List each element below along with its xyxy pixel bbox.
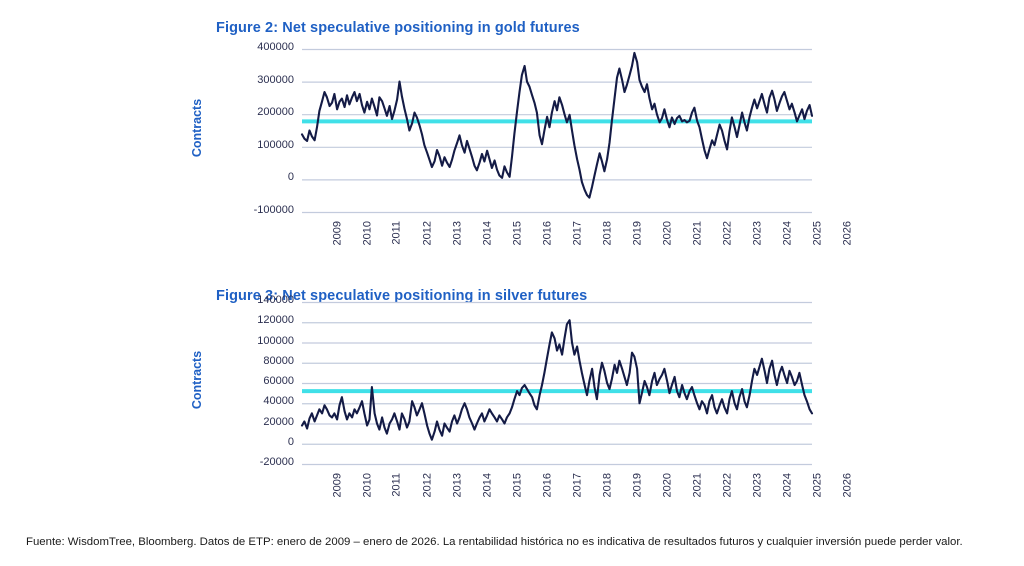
x-axis-tick-label: 2017 <box>571 221 583 245</box>
x-axis-tick-label: 2020 <box>661 221 673 245</box>
x-axis-tick-label: 2016 <box>541 473 553 497</box>
x-axis-tick-label: 2023 <box>751 221 763 245</box>
y-axis-tick-label: 0 <box>206 171 294 183</box>
x-axis-tick-label: 2025 <box>811 221 823 245</box>
figure-silver-plot: 140000120000100000800006000040000200000-… <box>0 268 1024 518</box>
data-series-line <box>302 53 812 198</box>
y-axis-tick-label: -100000 <box>206 204 294 216</box>
x-axis-tick-label: 2020 <box>661 473 673 497</box>
figure-silver: Figure 3: Net speculative positioning in… <box>0 268 1024 518</box>
data-series-line <box>302 320 812 439</box>
x-axis-tick-label: 2010 <box>361 473 373 497</box>
y-axis-tick-label: 200000 <box>206 106 294 118</box>
x-axis-tick-label: 2021 <box>691 473 703 497</box>
x-axis-tick-label: 2024 <box>781 473 793 497</box>
x-axis-tick-label: 2024 <box>781 221 793 245</box>
y-axis-tick-label: 40000 <box>206 395 294 407</box>
x-axis-tick-label: 2012 <box>421 473 433 497</box>
x-axis-tick-label: 2023 <box>751 473 763 497</box>
x-axis-tick-label: 2019 <box>631 473 643 497</box>
y-axis-tick-label: 100000 <box>206 139 294 151</box>
x-axis-tick-label: 2025 <box>811 473 823 497</box>
x-axis-tick-label: 2014 <box>481 473 493 497</box>
x-axis-tick-label: 2009 <box>331 221 343 245</box>
y-axis-tick-label: 0 <box>206 436 294 448</box>
x-axis-tick-label: 2011 <box>391 473 403 497</box>
x-axis-tick-label: 2017 <box>571 473 583 497</box>
x-axis-tick-label: 2011 <box>391 221 403 245</box>
y-axis-tick-label: 120000 <box>206 314 294 326</box>
y-axis-tick-label: 80000 <box>206 355 294 367</box>
x-axis-tick-label: 2021 <box>691 221 703 245</box>
x-axis-tick-label: 2012 <box>421 221 433 245</box>
x-axis-tick-label: 2019 <box>631 221 643 245</box>
figure-gold: Figure 2: Net speculative positioning in… <box>0 0 1024 268</box>
x-axis-tick-label: 2010 <box>361 221 373 245</box>
x-axis-tick-label: 2026 <box>841 221 853 245</box>
y-axis-tick-label: 100000 <box>206 335 294 347</box>
x-axis-tick-label: 2018 <box>601 473 613 497</box>
x-axis-tick-label: 2009 <box>331 473 343 497</box>
y-axis-tick-label: 60000 <box>206 375 294 387</box>
x-axis-tick-label: 2018 <box>601 221 613 245</box>
x-axis-tick-label: 2022 <box>721 221 733 245</box>
y-axis-tick-label: 20000 <box>206 416 294 428</box>
x-axis-tick-label: 2026 <box>841 473 853 497</box>
y-axis-tick-label: 140000 <box>206 294 294 306</box>
x-axis-tick-label: 2015 <box>511 221 523 245</box>
x-axis-tick-label: 2013 <box>451 221 463 245</box>
x-axis-tick-label: 2014 <box>481 221 493 245</box>
x-axis-tick-label: 2013 <box>451 473 463 497</box>
y-axis-tick-label: -20000 <box>206 456 294 468</box>
x-axis-tick-label: 2016 <box>541 221 553 245</box>
source-footnote: Fuente: WisdomTree, Bloomberg. Datos de … <box>26 536 963 548</box>
x-axis-tick-label: 2015 <box>511 473 523 497</box>
figure-gold-plot: 4000003000002000001000000-10000020092010… <box>0 0 1024 268</box>
y-axis-tick-label: 400000 <box>206 41 294 53</box>
x-axis-tick-label: 2022 <box>721 473 733 497</box>
y-axis-tick-label: 300000 <box>206 74 294 86</box>
